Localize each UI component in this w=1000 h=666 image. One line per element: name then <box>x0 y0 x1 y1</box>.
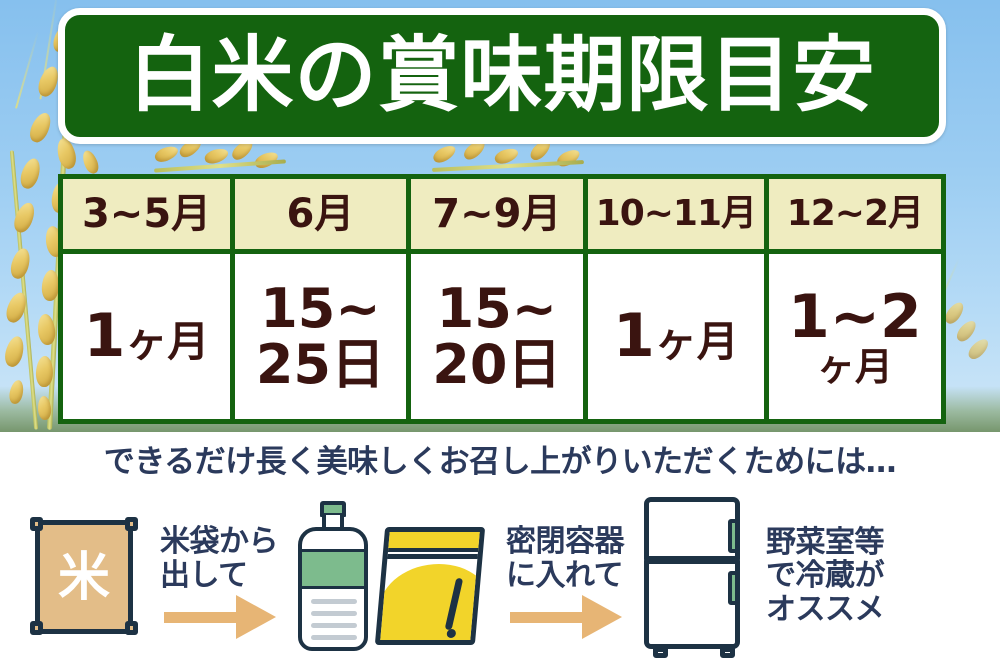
bottle-rib <box>311 635 357 640</box>
ziplock-seal <box>385 554 485 559</box>
table-cell-duration-5: 1~2 ヶ月 <box>769 254 941 419</box>
table-column-1: 3~5月 1ヶ月 <box>63 179 230 419</box>
table-header-period-2: 6月 <box>235 179 406 249</box>
table-cell-duration-3: 15~ 20日 <box>411 254 583 419</box>
ziplock-top-strip <box>386 532 485 552</box>
step-3-label: 野菜室等 で冷蔵が オススメ <box>766 526 884 627</box>
step-2-art <box>296 501 484 651</box>
step-3-label-line3: オススメ <box>766 593 884 627</box>
step-1-art: 米 <box>30 512 138 640</box>
plastic-bottle-icon <box>296 501 370 651</box>
rice-bag-icon: 米 <box>30 512 138 640</box>
step-2-label: 密閉容器 に入れて <box>506 525 624 592</box>
bottle-body <box>298 527 368 651</box>
ziplock-body <box>375 527 485 645</box>
table-column-5: 12~2月 1~2 ヶ月 <box>769 179 941 419</box>
step-2-label-line1: 密閉容器 <box>506 525 624 559</box>
title-banner: 白米の賞味期限目安 <box>58 8 946 144</box>
step-3-label-line2: で冷蔵が <box>766 559 884 593</box>
step-1-label-line1: 米袋から <box>160 525 278 559</box>
fridge-upper-door <box>644 497 740 561</box>
ziplock-bag-icon <box>380 527 484 649</box>
table-header-period-4: 10~11月 <box>588 179 764 249</box>
duration-value-2-line1: 15~ <box>260 281 380 336</box>
fridge-lower-door <box>644 559 740 649</box>
storage-steps: 米 米袋から 出して <box>0 486 1000 666</box>
table-header-period-1: 3~5月 <box>63 179 230 249</box>
step-2-label-line2: に入れて <box>506 559 624 593</box>
duration-value-2-line2: 25日 <box>256 337 385 392</box>
rice-kanji-label: 米 <box>30 512 138 640</box>
subtitle-text: できるだけ長く美味しくお召し上がりいただくためには… <box>0 436 1000 481</box>
shelf-life-table: 3~5月 1ヶ月 6月 15~ 25日 7~9月 15~ 20日 10~11月 … <box>58 174 946 424</box>
duration-unit-4: ヶ月 <box>655 317 739 366</box>
fridge-handle-upper <box>728 519 739 553</box>
duration-value-1: 1 <box>84 301 126 371</box>
table-cell-duration-1: 1ヶ月 <box>63 254 230 419</box>
poster-root: 白米の賞味期限目安 3~5月 1ヶ月 6月 15~ 25日 7~9月 15~ 2… <box>0 0 1000 666</box>
bottle-rib <box>311 611 357 616</box>
step-1-label-line2: 出して <box>160 559 278 593</box>
refrigerator-icon <box>640 495 748 657</box>
table-cell-duration-4: 1ヶ月 <box>588 254 764 419</box>
fridge-handle-lower <box>728 571 739 605</box>
table-header-period-5: 12~2月 <box>769 179 941 249</box>
arrow-shaft <box>510 612 588 623</box>
duration-value-5-line1: 1~2 <box>788 287 922 348</box>
table-column-2: 6月 15~ 25日 <box>235 179 406 419</box>
arrow-head <box>582 595 622 639</box>
storage-step-2: 密閉容器 に入れて <box>296 486 624 666</box>
table-cell-duration-2: 15~ 25日 <box>235 254 406 419</box>
table-header-period-3: 7~9月 <box>411 179 583 249</box>
bottle-rib <box>311 623 357 628</box>
duration-value-4: 1 <box>613 301 655 371</box>
duration-value-5-line2: ヶ月 <box>817 348 893 387</box>
storage-step-1: 米 米袋から 出して <box>30 486 278 666</box>
duration-value-3-line2: 20日 <box>432 337 561 392</box>
duration-value-3-line1: 15~ <box>437 281 557 336</box>
table-column-3: 7~9月 15~ 20日 <box>411 179 583 419</box>
arrow-shaft <box>164 612 242 623</box>
bottle-label <box>301 549 368 589</box>
step-2-arrow-icon <box>510 607 622 627</box>
arrow-head <box>236 595 276 639</box>
duration-unit-1: ヶ月 <box>125 317 209 366</box>
page-title: 白米の賞味期限目安 <box>128 35 875 117</box>
fridge-foot <box>653 647 668 658</box>
table-column-4: 10~11月 1ヶ月 <box>588 179 764 419</box>
fridge-foot <box>720 647 735 658</box>
step-3-art <box>640 495 748 657</box>
step-3-label-line1: 野菜室等 <box>766 526 884 560</box>
storage-step-3: 野菜室等 で冷蔵が オススメ <box>640 486 884 666</box>
step-1-label: 米袋から 出して <box>160 525 278 592</box>
ziplock-contents <box>376 564 485 642</box>
bottle-rib <box>311 599 357 604</box>
step-1-arrow-icon <box>164 607 276 627</box>
